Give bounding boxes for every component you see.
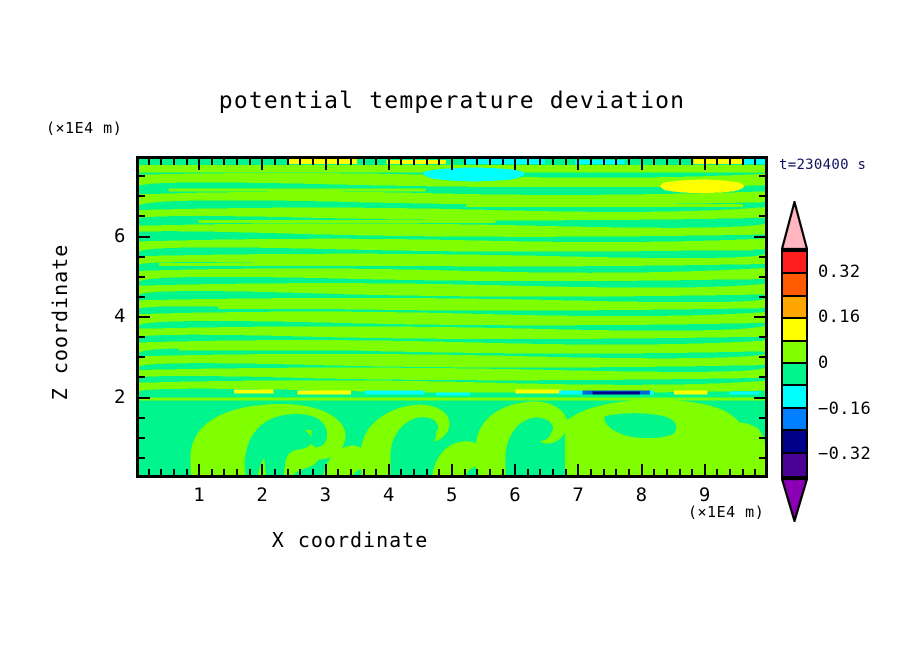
x-tick-bottom [426,469,428,475]
x-tick-top [363,159,365,165]
x-tick-top [287,159,289,165]
x-tick-top [337,159,339,165]
colorbar-band-2[interactable] [783,297,806,319]
colorbar-tick-label: 0 [818,353,829,373]
x-tick-bottom [148,469,150,475]
colorbar-band-9[interactable] [783,454,806,476]
x-tick-top [514,159,516,170]
colorbar-band-0[interactable] [783,252,806,274]
x-tick-label: 5 [437,484,467,506]
x-tick-bottom [464,469,466,475]
x-tick-label: 7 [563,484,593,506]
y-axis-title: Z coordinate [48,202,72,442]
x-tick-bottom [565,469,567,475]
y-tick-left [139,215,145,217]
x-tick-bottom [603,469,605,475]
x-tick-top [148,159,150,165]
x-tick-top [375,159,377,165]
x-tick-bottom [653,469,655,475]
x-tick-bottom [742,469,744,475]
x-tick-top [198,159,200,170]
x-tick-bottom [274,469,276,475]
y-tick-left [139,276,145,278]
x-tick-top [299,159,301,165]
x-tick-top [628,159,630,165]
x-tick-bottom [261,464,263,475]
x-tick-bottom [173,469,175,475]
x-tick-top [552,159,554,165]
x-tick-bottom [198,464,200,475]
x-tick-bottom [400,469,402,475]
colorbar-band-4[interactable] [783,342,806,364]
colorbar-under-arrow [781,478,808,522]
x-tick-bottom [211,469,213,475]
x-tick-bottom [160,469,162,475]
colorbar-tick-label: 0.32 [818,262,861,282]
x-tick-top [729,159,731,165]
x-tick-top [565,159,567,165]
y-tick-right [759,336,765,338]
y-tick-right [754,397,765,399]
x-tick-bottom [615,469,617,475]
x-tick-label: 4 [374,484,404,506]
y-tick-left [139,256,145,258]
x-tick-label: 1 [184,484,214,506]
x-tick-bottom [590,469,592,475]
x-tick-top [527,159,529,165]
x-tick-top [679,159,681,165]
timestamp-label: t=230400 s [779,157,866,173]
colorbar[interactable] [781,250,808,478]
x-tick-bottom [539,469,541,475]
colorbar-over-arrow [781,201,808,250]
y-tick-left [139,437,145,439]
x-tick-top [160,159,162,165]
x-tick-top [211,159,213,165]
x-tick-top [615,159,617,165]
x-tick-bottom [375,469,377,475]
x-tick-top [476,159,478,165]
x-tick-bottom [577,464,579,475]
x-tick-bottom [716,469,718,475]
x-tick-top [451,159,453,170]
y-tick-left [139,336,145,338]
x-tick-bottom [388,464,390,475]
x-tick-bottom [704,464,706,475]
x-tick-top [274,159,276,165]
x-tick-top [223,159,225,165]
x-tick-bottom [691,469,693,475]
x-tick-bottom [438,469,440,475]
x-tick-bottom [679,469,681,475]
x-tick-bottom [325,464,327,475]
colorbar-band-5[interactable] [783,364,806,386]
x-tick-bottom [476,469,478,475]
x-tick-top [577,159,579,170]
colorbar-band-3[interactable] [783,319,806,341]
y-tick-left [139,376,145,378]
y-tick-right [754,316,765,318]
y-tick-label: 4 [92,305,126,327]
x-tick-top [603,159,605,165]
x-tick-bottom [641,464,643,475]
colorbar-band-8[interactable] [783,431,806,453]
x-tick-top [666,159,668,165]
x-tick-bottom [299,469,301,475]
z-axis-unit-label: (×1E4 m) [46,119,122,137]
colorbar-tick-label: −0.16 [818,399,871,419]
x-tick-bottom [527,469,529,475]
y-tick-left [139,417,145,419]
y-tick-right [759,457,765,459]
y-tick-right [759,256,765,258]
x-tick-bottom [754,469,756,475]
y-tick-right [759,215,765,217]
x-tick-top [691,159,693,165]
x-tick-top [641,159,643,170]
contour-plot-panel[interactable] [136,156,768,478]
x-tick-top [438,159,440,165]
x-tick-top [325,159,327,170]
colorbar-band-6[interactable] [783,386,806,408]
y-tick-left [139,397,150,399]
x-tick-bottom [413,469,415,475]
y-tick-right [759,376,765,378]
y-tick-label: 6 [92,225,126,247]
y-tick-left [139,457,145,459]
x-tick-top [426,159,428,165]
y-tick-right [759,195,765,197]
y-tick-right [759,437,765,439]
x-tick-bottom [312,469,314,475]
x-tick-top [754,159,756,165]
x-tick-top [388,159,390,170]
y-tick-right [759,356,765,358]
x-tick-top [312,159,314,165]
y-tick-left [139,356,145,358]
x-tick-top [653,159,655,165]
x-tick-bottom [666,469,668,475]
colorbar-tick-label: 0.16 [818,307,861,327]
y-tick-right [759,276,765,278]
x-tick-top [464,159,466,165]
x-tick-bottom [223,469,225,475]
x-tick-label: 9 [690,484,720,506]
x-tick-bottom [186,469,188,475]
x-tick-top [413,159,415,165]
x-tick-top [261,159,263,170]
x-tick-bottom [249,469,251,475]
x-tick-top [173,159,175,165]
x-tick-bottom [287,469,289,475]
x-tick-bottom [552,469,554,475]
x-tick-bottom [628,469,630,475]
x-tick-top [704,159,706,170]
x-tick-top [249,159,251,165]
x-tick-top [400,159,402,165]
y-tick-left [139,175,145,177]
colorbar-band-7[interactable] [783,409,806,431]
x-tick-top [716,159,718,165]
x-tick-top [742,159,744,165]
x-tick-label: 6 [500,484,530,506]
x-tick-bottom [514,464,516,475]
x-tick-bottom [363,469,365,475]
x-tick-bottom [451,464,453,475]
y-tick-left [139,236,150,238]
x-axis-title: X coordinate [0,528,700,552]
x-tick-label: 8 [627,484,657,506]
colorbar-band-1[interactable] [783,274,806,296]
x-tick-label: 2 [247,484,277,506]
x-tick-bottom [729,469,731,475]
x-tick-bottom [337,469,339,475]
y-tick-right [759,417,765,419]
y-tick-label: 2 [92,386,126,408]
y-tick-left [139,195,145,197]
x-tick-top [350,159,352,165]
x-tick-bottom [489,469,491,475]
x-tick-top [236,159,238,165]
x-tick-bottom [350,469,352,475]
x-tick-top [502,159,504,165]
x-tick-top [186,159,188,165]
y-tick-right [759,296,765,298]
y-tick-left [139,316,150,318]
x-tick-top [590,159,592,165]
x-tick-bottom [236,469,238,475]
x-tick-top [539,159,541,165]
y-tick-left [139,296,145,298]
colorbar-tick-label: −0.32 [818,444,871,464]
x-tick-top [489,159,491,165]
x-tick-bottom [502,469,504,475]
contour-field [139,159,765,475]
chart-title: potential temperature deviation [0,88,904,114]
y-tick-right [759,175,765,177]
x-tick-label: 3 [311,484,341,506]
y-tick-right [754,236,765,238]
